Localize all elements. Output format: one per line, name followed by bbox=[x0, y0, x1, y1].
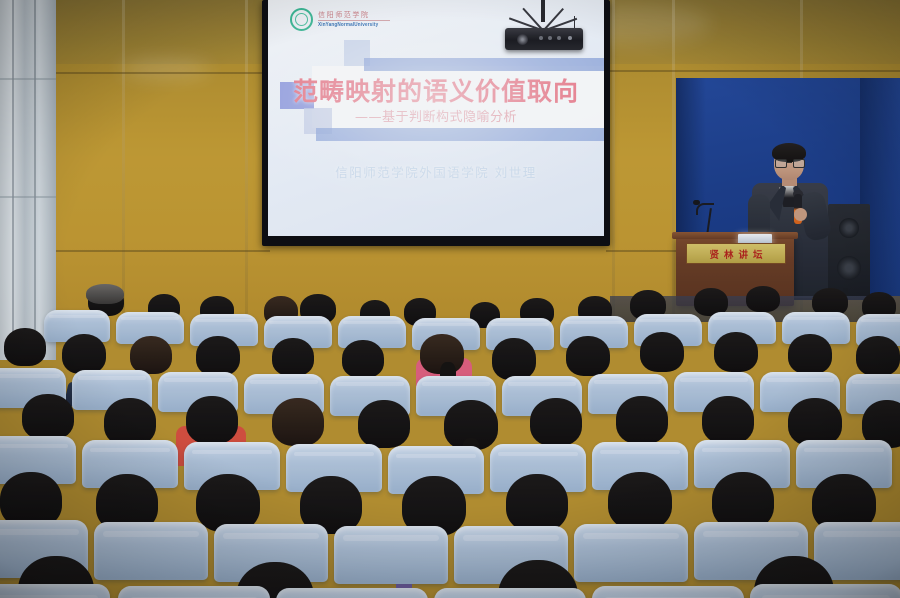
auditorium-seat bbox=[94, 522, 208, 580]
projector-icon bbox=[505, 28, 583, 50]
audience-head bbox=[788, 398, 842, 446]
audience-head bbox=[272, 398, 324, 446]
audience-head bbox=[22, 394, 74, 440]
audience-area bbox=[0, 276, 900, 598]
auditorium-seat bbox=[750, 584, 900, 598]
auditorium-seat bbox=[334, 526, 448, 584]
audience-head bbox=[130, 336, 172, 374]
audience-head bbox=[530, 398, 582, 446]
audience-head bbox=[566, 336, 610, 376]
auditorium-seat bbox=[0, 584, 110, 598]
logo-english-name: XinYangNormalUniversity bbox=[318, 22, 390, 27]
slide-presenter-line: 信阳师范学院外国语学院 刘世理 bbox=[268, 162, 604, 181]
microphone-capsule bbox=[693, 200, 700, 205]
slide-title: 范畴映射的语义价值取向 bbox=[268, 72, 604, 108]
university-emblem-icon bbox=[290, 8, 313, 31]
audience-head bbox=[492, 338, 536, 380]
slide-accent-bar-top bbox=[364, 58, 604, 71]
audience-head bbox=[62, 334, 106, 374]
audience-head bbox=[104, 398, 156, 446]
presenter-hand bbox=[794, 208, 807, 221]
glasses-icon bbox=[775, 159, 803, 166]
lectern-plaque-text: 贤林讲坛 bbox=[704, 247, 767, 261]
wall-horizontal-seam bbox=[608, 70, 900, 72]
audience-head bbox=[186, 396, 238, 444]
university-logo: 信阳师范学院 XinYangNormalUniversity bbox=[290, 8, 390, 31]
auditorium-seat bbox=[592, 586, 744, 598]
wall-smudge bbox=[120, 60, 210, 78]
auditorium-seat bbox=[434, 588, 586, 598]
audience-head bbox=[714, 332, 758, 372]
audience-head bbox=[272, 338, 314, 376]
audience-head bbox=[640, 332, 684, 372]
audience-head bbox=[702, 396, 754, 444]
audience-head bbox=[342, 340, 384, 378]
logo-chinese-name: 信阳师范学院 bbox=[318, 12, 390, 19]
slide-subtitle: ——基于判断构式隐喻分析 bbox=[268, 106, 604, 125]
audience-head bbox=[608, 472, 672, 530]
wall-horizontal-seam bbox=[56, 72, 276, 74]
audience-head bbox=[616, 396, 668, 444]
projector-lens-icon bbox=[517, 34, 528, 45]
audience-head bbox=[358, 400, 410, 448]
auditorium-seat bbox=[276, 588, 428, 598]
audience-head bbox=[788, 334, 832, 374]
audience-head bbox=[856, 336, 900, 376]
slide-accent-bar-bottom bbox=[316, 128, 604, 141]
audience-head bbox=[86, 284, 124, 304]
audience-head bbox=[746, 286, 780, 312]
audience-head bbox=[506, 474, 568, 532]
lectern-top bbox=[672, 232, 798, 239]
lecture-hall-photo: 信阳师范学院 XinYangNormalUniversity 范畴映射的语义价值… bbox=[0, 0, 900, 598]
audience-head bbox=[196, 336, 240, 376]
lectern-plaque: 贤林讲坛 bbox=[686, 243, 786, 264]
audience-head bbox=[4, 328, 46, 366]
auditorium-seat bbox=[574, 524, 688, 582]
auditorium-seat bbox=[118, 586, 270, 598]
